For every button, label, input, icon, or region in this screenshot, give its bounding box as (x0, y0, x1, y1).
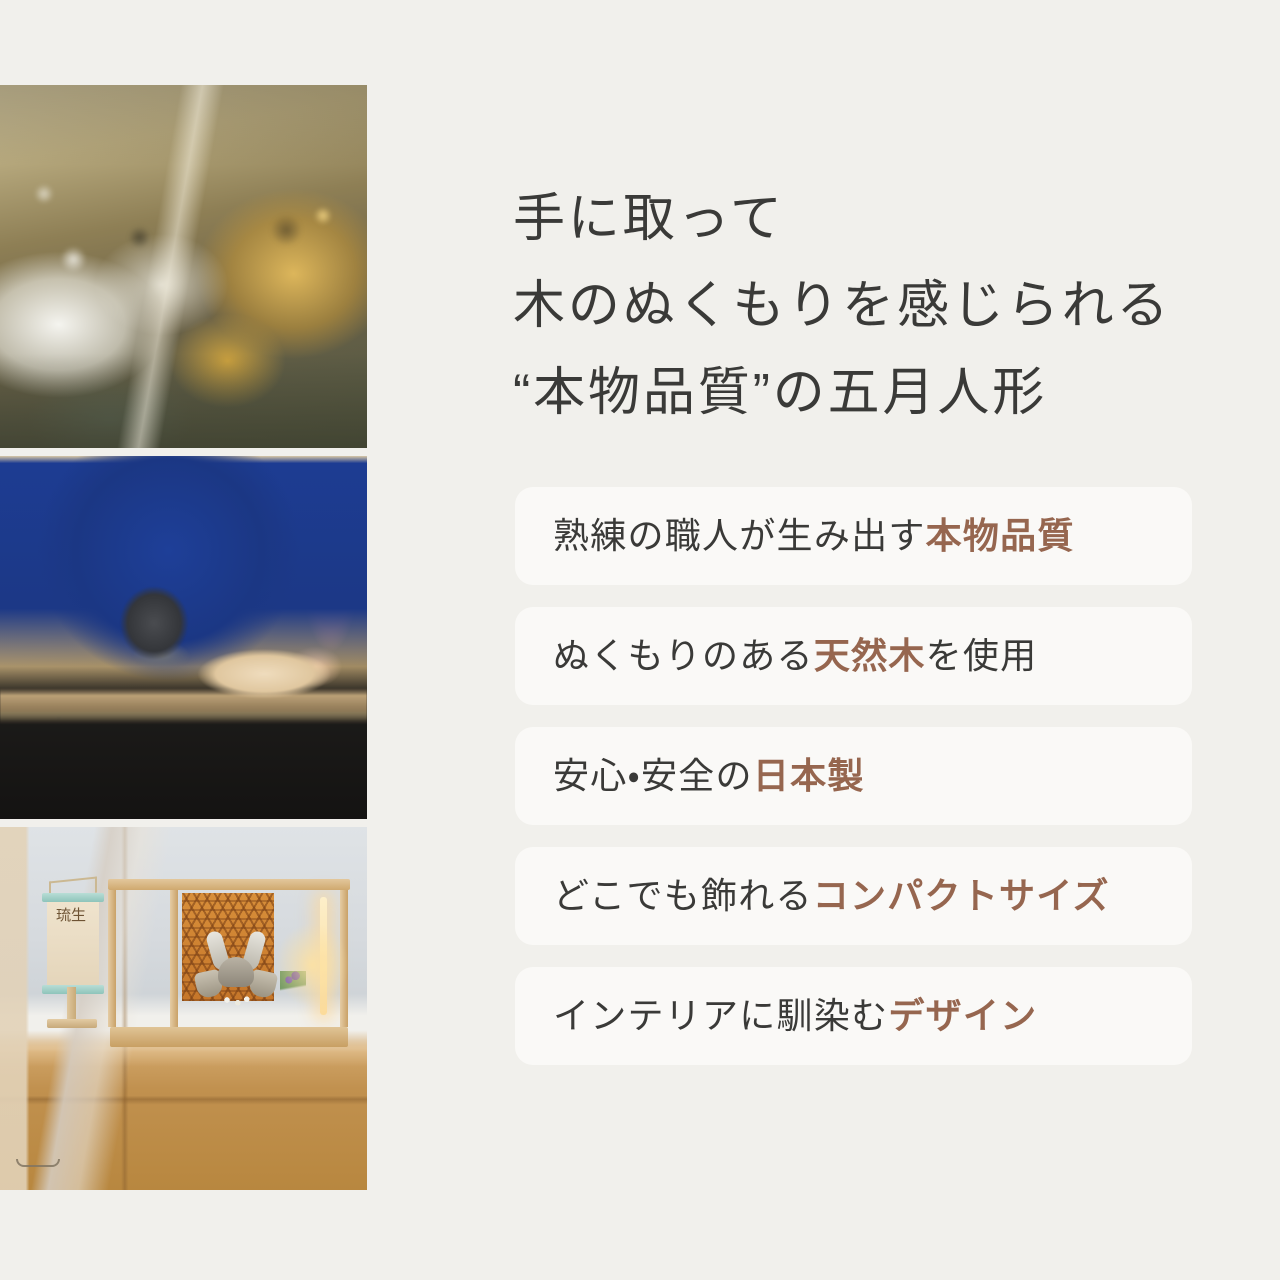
feature-text-2: ぬくもりのある天然木を使用 (515, 634, 1037, 678)
feature-1-accent: 本物品質 (926, 515, 1075, 556)
feature-card-3: 安心・安全の日本製 (515, 727, 1192, 825)
case-post-left (108, 890, 116, 1027)
page-title: 手に取って 木のぬくもりを感じられる “本物品質”の五月人形 (513, 176, 1213, 437)
kabuto-bowl (218, 957, 254, 987)
feature-text-4: どこでも飾れるコンパクトサイズ (515, 874, 1110, 918)
scroll-top-bar (42, 893, 104, 902)
case-top-rail (108, 879, 350, 890)
feature-card-2: ぬくもりのある天然木を使用 (515, 607, 1192, 705)
scroll-hanger (49, 876, 97, 897)
case-light-icon (320, 897, 327, 1015)
feature-list: 熟練の職人が生み出す本物品質 ぬくもりのある天然木を使用 安心・安全の日本製 ど… (515, 487, 1192, 1065)
name-scroll: 琉生 (45, 879, 101, 1015)
feature-text-1: 熟練の職人が生み出す本物品質 (515, 514, 1075, 558)
kabuto-neck-guard-left (194, 969, 225, 1000)
scroll-stand-foot (47, 1019, 97, 1028)
feature-3-plain-before: 安心・安全の (553, 755, 753, 796)
feature-2-plain-after: を使用 (926, 635, 1038, 676)
kumiko-lattice-panel (182, 893, 274, 1001)
scroll-stand-post (67, 987, 76, 1021)
feature-text-5: インテリアに馴染むデザイン (515, 994, 1037, 1038)
scroll-paper (47, 901, 99, 987)
photo-column: 琉生 (0, 85, 367, 1190)
headline-line-1: 手に取って (513, 176, 1213, 263)
kabuto-helmet (204, 931, 268, 1003)
feature-2-plain-before: ぬくもりのある (553, 635, 814, 676)
feature-4-accent: コンパクトサイズ (813, 875, 1110, 916)
feature-card-5: インテリアに馴染むデザイン (515, 967, 1192, 1065)
photo-craftsman-sanding (0, 456, 367, 819)
feature-2-accent: 天然木 (814, 635, 926, 676)
feature-5-plain-before: インテリアに馴染む (553, 995, 888, 1036)
content-column: 手に取って 木のぬくもりを感じられる “本物品質”の五月人形 熟練の職人が生み出… (513, 0, 1280, 1280)
headline-line-3: “本物品質”の五月人形 (513, 350, 1213, 437)
kabuto-horn-left (205, 930, 231, 973)
wooden-display-case (108, 879, 350, 1047)
feature-card-4: どこでも飾れるコンパクトサイズ (515, 847, 1192, 945)
photo-product-display: 琉生 (0, 827, 367, 1190)
headline-line-2: 木のぬくもりを感じられる (513, 263, 1213, 350)
feature-5-accent: デザイン (888, 995, 1037, 1036)
case-post-right (340, 890, 348, 1027)
feature-3-accent: 日本製 (753, 755, 865, 796)
feature-text-3: 安心・安全の日本製 (515, 754, 865, 798)
promo-page: 琉生 (0, 0, 1280, 1280)
scroll-name-text: 琉生 (45, 905, 97, 925)
iris-flowers (280, 971, 306, 1005)
scroll-bottom-bar (42, 985, 104, 994)
feature-4-plain-before: どこでも飾れる (553, 875, 813, 916)
feature-card-1: 熟練の職人が生み出す本物品質 (515, 487, 1192, 585)
photo-armor-fittings (0, 85, 367, 448)
case-base (110, 1027, 348, 1047)
kabuto-horn-right (241, 930, 267, 973)
case-post-mid (170, 890, 178, 1027)
drawer-handle-icon (16, 1159, 60, 1167)
feature-1-plain-before: 熟練の職人が生み出す (553, 515, 926, 556)
kabuto-cord (218, 993, 254, 1007)
kabuto-neck-guard-right (248, 969, 279, 1000)
